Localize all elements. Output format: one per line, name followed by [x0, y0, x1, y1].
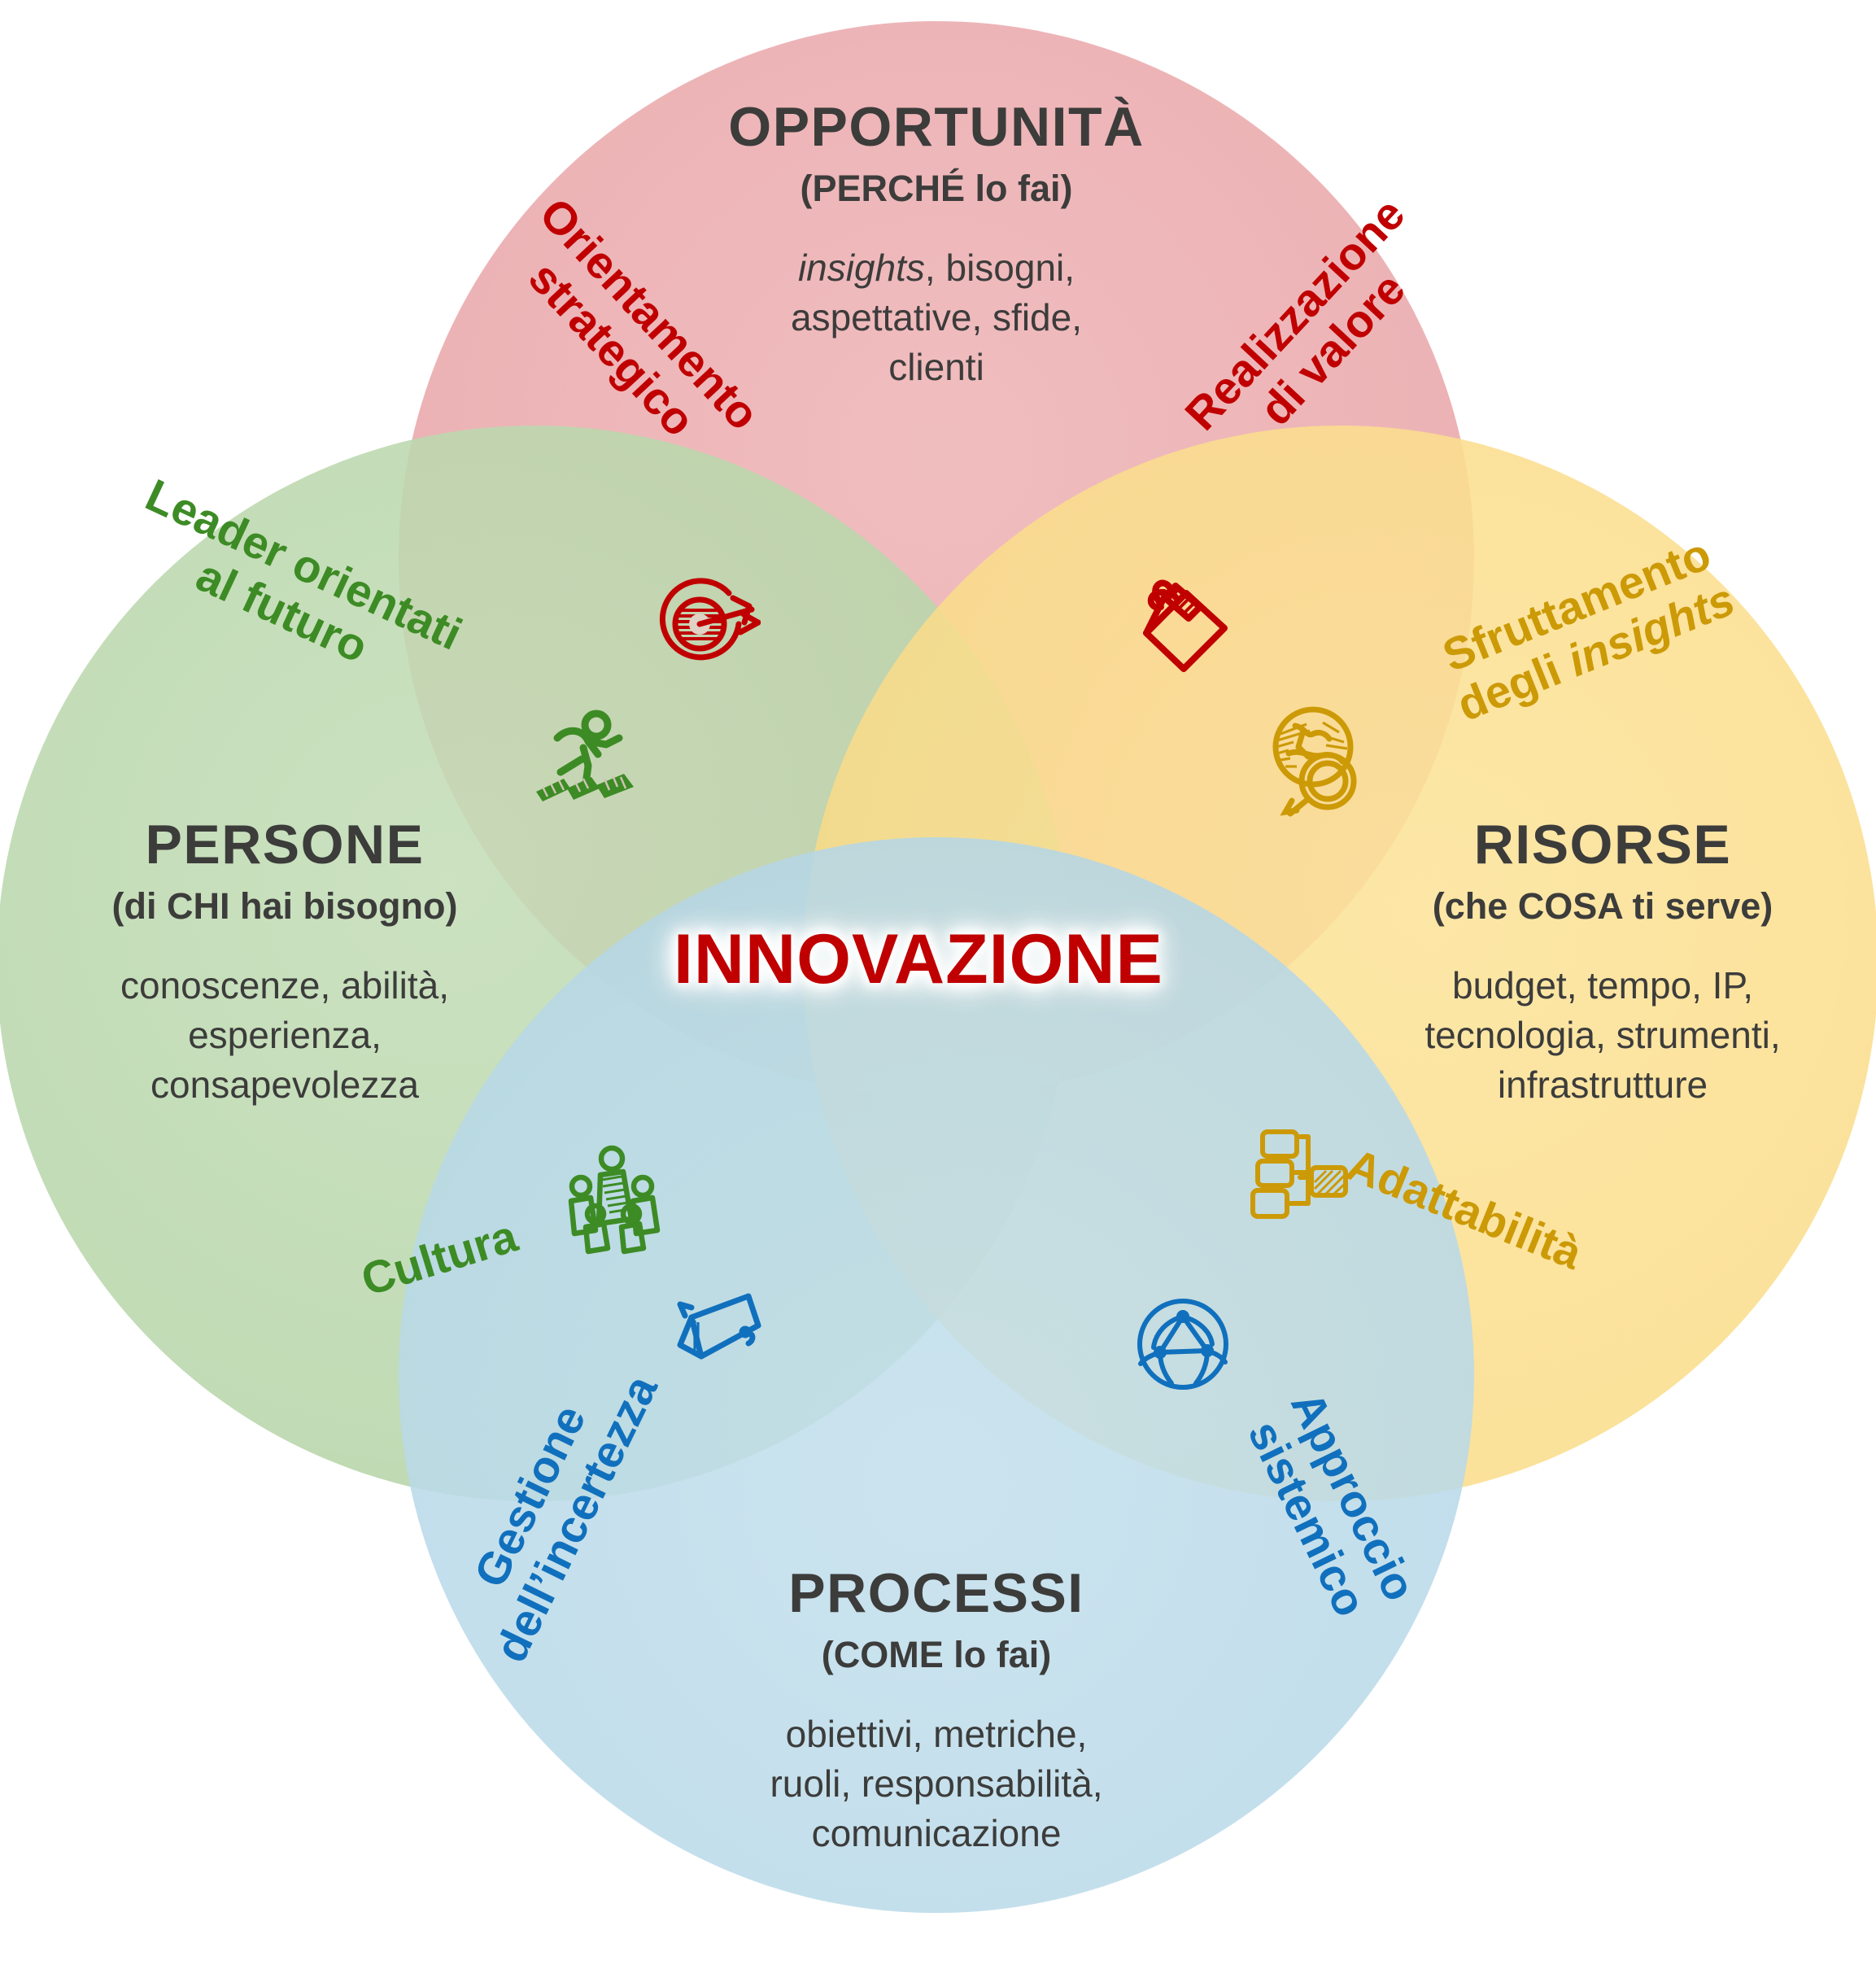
processi-body-l2: ruoli, responsabilità,: [770, 1762, 1102, 1805]
opportunita-title: OPPORTUNITÀ: [530, 96, 1343, 159]
globe-magnifier-icon: [1259, 701, 1381, 819]
risorse-subtitle: (che COSA ti serve): [1342, 885, 1863, 927]
network-sphere-icon: [1132, 1294, 1234, 1395]
target-dart-icon: [651, 574, 761, 671]
risorse-body-l1: budget, tempo, IP,: [1452, 964, 1753, 1007]
persone-body-l3: consapevolezza: [151, 1063, 419, 1106]
persone-subtitle: (di CHI hai bisogno): [24, 885, 545, 927]
processi-body: obiettivi, metriche, ruoli, responsabili…: [530, 1710, 1343, 1859]
persone-title: PERSONE: [24, 814, 545, 877]
persone-body-l1: conoscenze, abilità,: [120, 964, 449, 1007]
processi-body-l3: comunicazione: [812, 1812, 1062, 1854]
runner-stairs-icon: [533, 688, 647, 801]
risorse-body-l3: infrastrutture: [1498, 1063, 1708, 1106]
compass-arrow-icon: [667, 1282, 773, 1379]
risorse-body: budget, tempo, IP, tecnologia, strumenti…: [1342, 961, 1863, 1111]
persone-body-l2: esperienza,: [188, 1014, 382, 1056]
processi-subtitle: (COME lo fai): [530, 1634, 1343, 1675]
risorse-body-l2: tecnologia, strumenti,: [1424, 1014, 1780, 1056]
processi-body-l1: obiettivi, metriche,: [786, 1713, 1088, 1755]
gift-box-icon: [1127, 570, 1245, 679]
block-risorse: RISORSE (che COSA ti serve) budget, temp…: [1342, 814, 1863, 1110]
venn-diagram: OPPORTUNITÀ (PERCHÉ lo fai) insights, bi…: [0, 0, 1876, 1965]
block-processi: PROCESSI (COME lo fai) obiettivi, metric…: [530, 1562, 1343, 1858]
risorse-title: RISORSE: [1342, 814, 1863, 877]
opportunita-body-l1: , bisogni,: [925, 247, 1075, 289]
flow-blocks-icon: [1245, 1125, 1367, 1235]
block-persone: PERSONE (di CHI hai bisogno) conoscenze,…: [24, 814, 545, 1110]
opportunita-body-l3: clienti: [888, 346, 984, 388]
opportunita-body-italic: insights: [798, 247, 925, 289]
opportunita-body-l2: aspettative, sfide,: [791, 296, 1082, 338]
processi-title: PROCESSI: [530, 1562, 1343, 1626]
persone-body: conoscenze, abilità, esperienza, consape…: [24, 961, 545, 1111]
center-label-innovazione: INNOVAZIONE: [674, 919, 1163, 1000]
opportunita-subtitle: (PERCHÉ lo fai): [530, 168, 1343, 209]
people-group-icon: [553, 1139, 671, 1257]
